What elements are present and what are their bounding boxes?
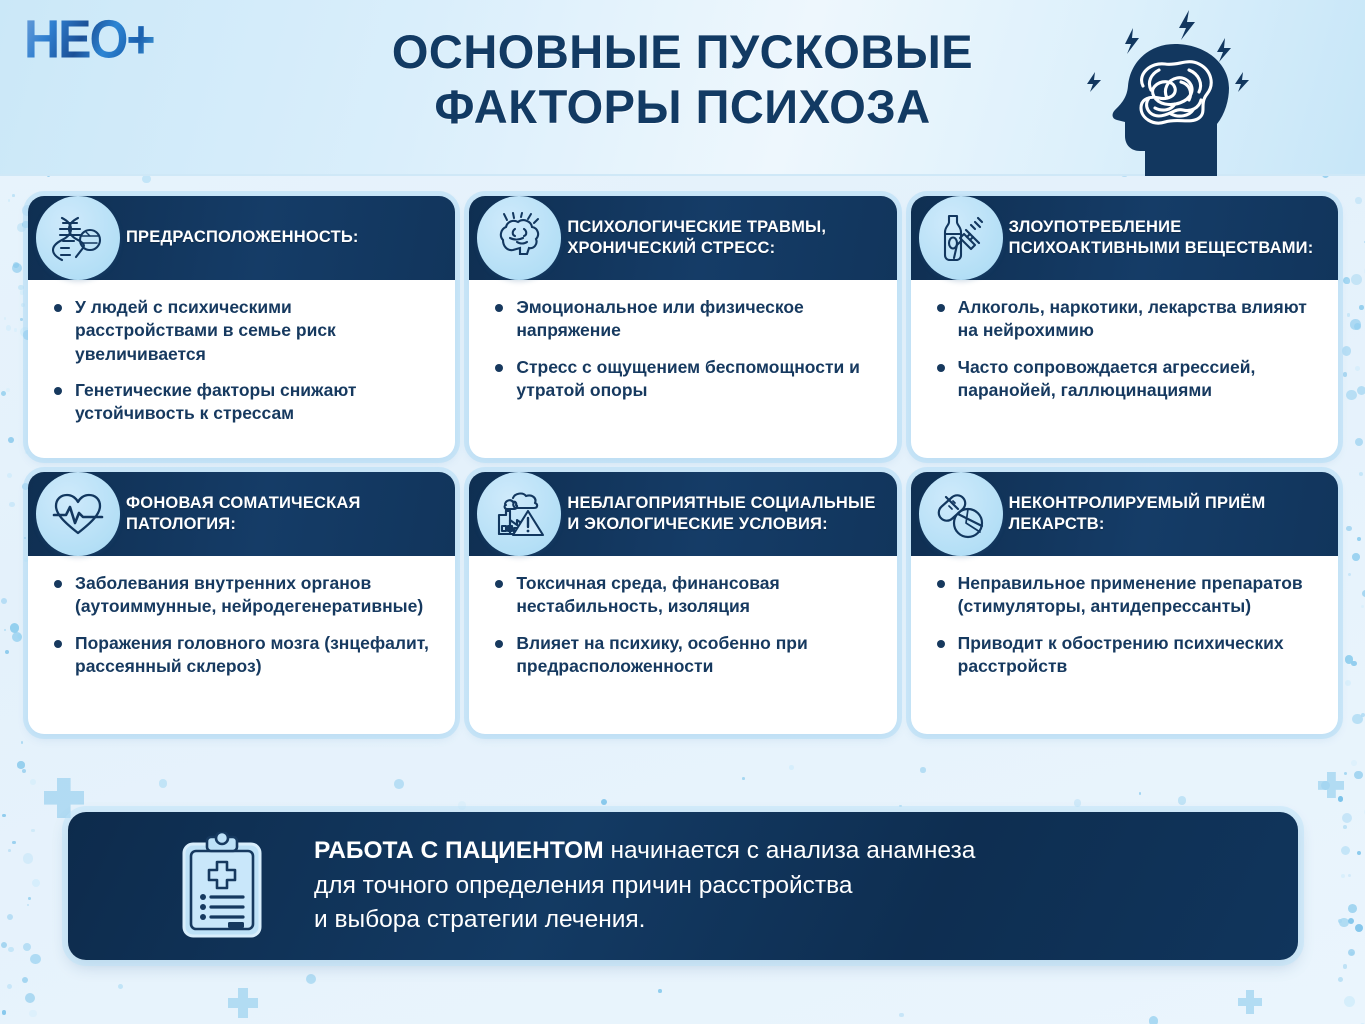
- head-tangled-brain-icon: [1067, 4, 1277, 176]
- factor-card-social-ecological[interactable]: НЕБЛАГОПРИЯТНЫЕ СОЦИАЛЬНЫЕ И ЭКОЛОГИЧЕСК…: [469, 472, 896, 734]
- bullet-list: Неправильное применение препаратов (стим…: [933, 572, 1322, 678]
- factors-grid: ПРЕДРАСПОЛОЖЕННОСТЬ: У людей с психическ…: [28, 196, 1338, 734]
- card-title: ПСИХОЛОГИЧЕСКИЕ ТРАВМЫ, ХРОНИЧЕСКИЙ СТРЕ…: [567, 217, 882, 259]
- bullet-list: У людей с психическими расстройствами в …: [50, 296, 439, 425]
- bullet-item: Заболевания внутренних органов (аутоимму…: [50, 572, 439, 619]
- stressed-brain-icon: [477, 196, 561, 280]
- pills-icon: [919, 472, 1003, 556]
- bullet-item: Токсичная среда, финансовая нестабильнос…: [491, 572, 880, 619]
- factory-warning-icon: [477, 472, 561, 556]
- bullet-item: Генетические факторы снижают устойчивост…: [50, 379, 439, 426]
- bullet-list: Токсичная среда, финансовая нестабильнос…: [491, 572, 880, 678]
- card-header: ПРЕДРАСПОЛОЖЕННОСТЬ:: [28, 196, 455, 280]
- dna-magnifier-icon: [36, 196, 120, 280]
- bullet-item: Поражения головного мозга (знцефалит, ра…: [50, 632, 439, 679]
- factor-card-somatic-pathology[interactable]: ФОНОВАЯ СОМАТИЧЕСКАЯ ПАТОЛОГИЯ: Заболева…: [28, 472, 455, 734]
- bottle-syringe-icon: [919, 196, 1003, 280]
- factor-card-uncontrolled-medication[interactable]: НЕКОНТРОЛИРУЕМЫЙ ПРИЁМ ЛЕКАРСТВ: Неправи…: [911, 472, 1338, 734]
- bullet-item: Алкоголь, наркотики, лекарства влияют на…: [933, 296, 1322, 343]
- bullet-list: Алкоголь, наркотики, лекарства влияют на…: [933, 296, 1322, 402]
- card-body: Алкоголь, наркотики, лекарства влияют на…: [911, 280, 1338, 458]
- factor-card-substance-abuse[interactable]: ЗЛОУПОТРЕБЛЕНИЕ ПСИХОАКТИВНЫМИ ВЕЩЕСТВАМ…: [911, 196, 1338, 458]
- heart-pulse-icon: [36, 472, 120, 556]
- card-header: ЗЛОУПОТРЕБЛЕНИЕ ПСИХОАКТИВНЫМИ ВЕЩЕСТВАМ…: [911, 196, 1338, 280]
- card-title: ФОНОВАЯ СОМАТИЧЕСКАЯ ПАТОЛОГИЯ:: [126, 493, 441, 535]
- factor-card-predisposition[interactable]: ПРЕДРАСПОЛОЖЕННОСТЬ: У людей с психическ…: [28, 196, 455, 458]
- card-title: ПРЕДРАСПОЛОЖЕННОСТЬ:: [126, 227, 359, 248]
- footer-bold-lead: РАБОТА С ПАЦИЕНТОМ: [314, 837, 604, 864]
- footer-line-3: и выбора стратегии лечения.: [314, 903, 975, 938]
- bullet-item: Эмоциональное или физическое напряжение: [491, 296, 880, 343]
- card-header: ФОНОВАЯ СОМАТИЧЕСКАЯ ПАТОЛОГИЯ:: [28, 472, 455, 556]
- card-body: Эмоциональное или физическое напряжение …: [469, 280, 896, 458]
- card-header: ПСИХОЛОГИЧЕСКИЕ ТРАВМЫ, ХРОНИЧЕСКИЙ СТРЕ…: [469, 196, 896, 280]
- card-body: Заболевания внутренних органов (аутоимму…: [28, 556, 455, 734]
- bullet-item: Часто сопровождается агрессией, паранойе…: [933, 356, 1322, 403]
- bullet-item: Влияет на психику, особенно при предрасп…: [491, 632, 880, 679]
- card-body: У людей с психическими расстройствами в …: [28, 280, 455, 458]
- card-header: НЕКОНТРОЛИРУЕМЫЙ ПРИЁМ ЛЕКАРСТВ:: [911, 472, 1338, 556]
- footer-line-1: РАБОТА С ПАЦИЕНТОМ начинается с анализа …: [314, 834, 975, 869]
- bullet-list: Заболевания внутренних органов (аутоимму…: [50, 572, 439, 678]
- card-title: НЕБЛАГОПРИЯТНЫЕ СОЦИАЛЬНЫЕ И ЭКОЛОГИЧЕСК…: [567, 493, 882, 535]
- footer-line-1-rest: начинается с анализа анамнеза: [604, 837, 976, 864]
- footer-message: РАБОТА С ПАЦИЕНТОМ начинается с анализа …: [314, 834, 975, 938]
- factor-card-trauma-stress[interactable]: ПСИХОЛОГИЧЕСКИЕ ТРАВМЫ, ХРОНИЧЕСКИЙ СТРЕ…: [469, 196, 896, 458]
- card-body: Неправильное применение препаратов (стим…: [911, 556, 1338, 734]
- page-header: НЕО+ ОСНОВНЫЕ ПУСКОВЫЕ ФАКТОРЫ ПСИХОЗА: [0, 0, 1365, 176]
- clipboard-medical-icon: [176, 832, 268, 940]
- card-header: НЕБЛАГОПРИЯТНЫЕ СОЦИАЛЬНЫЕ И ЭКОЛОГИЧЕСК…: [469, 472, 896, 556]
- bullet-item: Приводит к обострению психических расстр…: [933, 632, 1322, 679]
- bullet-item: Стресс с ощущением беспомощности и утрат…: [491, 356, 880, 403]
- card-body: Токсичная среда, финансовая нестабильнос…: [469, 556, 896, 734]
- bullet-item: Неправильное применение препаратов (стим…: [933, 572, 1322, 619]
- footer-banner: РАБОТА С ПАЦИЕНТОМ начинается с анализа …: [68, 812, 1298, 960]
- card-title: НЕКОНТРОЛИРУЕМЫЙ ПРИЁМ ЛЕКАРСТВ:: [1009, 493, 1324, 535]
- bullet-list: Эмоциональное или физическое напряжение …: [491, 296, 880, 402]
- footer-line-2: для точного определения причин расстройс…: [314, 869, 975, 904]
- bullet-item: У людей с психическими расстройствами в …: [50, 296, 439, 366]
- card-title: ЗЛОУПОТРЕБЛЕНИЕ ПСИХОАКТИВНЫМИ ВЕЩЕСТВАМ…: [1009, 217, 1324, 259]
